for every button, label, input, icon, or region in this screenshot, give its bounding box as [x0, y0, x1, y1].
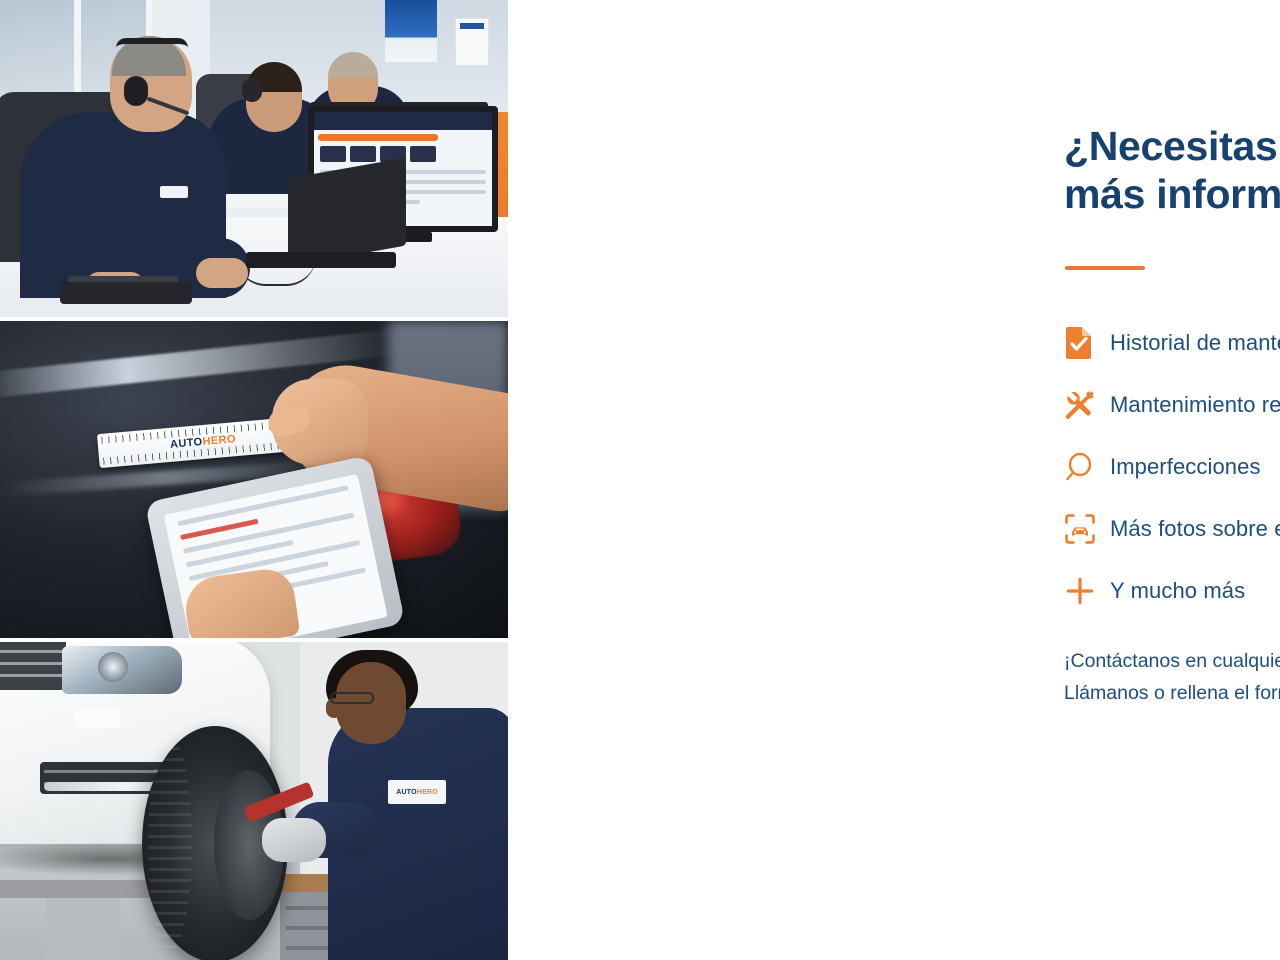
- plus-icon: [1064, 575, 1110, 607]
- accent-divider: [1065, 266, 1145, 270]
- headset-icon: [242, 78, 262, 102]
- car-lift-column: [46, 898, 120, 960]
- wrench-screwdriver-icon: [1064, 389, 1110, 421]
- wall-poster: [385, 0, 437, 62]
- desk-tablet: [60, 282, 192, 304]
- document-check-icon: [1064, 326, 1110, 360]
- headset-band-icon: [116, 38, 188, 48]
- photo-column: AUTOHERO: [0, 0, 508, 960]
- headline-line-2: más información?: [1064, 170, 1280, 218]
- car-grille: [0, 642, 66, 690]
- patch-brand-auto: AUTO: [396, 789, 417, 796]
- wall-notice: [455, 18, 489, 66]
- contact-line-2: Llámanos o rellena el formulario de cont…: [1064, 677, 1280, 709]
- agent-third-hair: [328, 52, 378, 78]
- content-panel: ¿Necesitas más información? Estamos: [508, 0, 1280, 960]
- patch-brand-hero: HERO: [417, 789, 438, 796]
- feature-label: Y mucho más: [1110, 578, 1245, 604]
- car-headlight: [62, 646, 182, 694]
- agent-main-hand: [196, 258, 248, 288]
- feature-item-fotos: Más fotos sobre el coche: [1064, 498, 1280, 560]
- contact-line-1: ¡Contáctanos en cualquier momento para m…: [1064, 645, 1280, 677]
- headset-earcup-icon: [124, 76, 148, 106]
- feature-item-mas: Y mucho más: [1064, 560, 1280, 622]
- feature-label: Más fotos sobre el coche: [1110, 516, 1280, 542]
- call-center-agents-photo: [0, 0, 508, 317]
- feature-list: Historial de mantenimientos Mantenimient…: [1064, 312, 1280, 622]
- glasses-icon: [330, 692, 374, 704]
- license-plate-blank: [74, 708, 120, 728]
- headline-line-1: ¿Necesitas: [1064, 123, 1278, 169]
- page-title: ¿Necesitas más información?: [1064, 122, 1280, 219]
- magnifier-icon: [1064, 451, 1110, 483]
- car-inspection-ruler-photo: AUTOHERO: [0, 321, 508, 638]
- promo-page: AUTOHERO: [0, 0, 1280, 960]
- feature-item-historial: Historial de mantenimientos: [1064, 312, 1280, 374]
- feature-label: Imperfecciones: [1110, 454, 1261, 480]
- feature-item-mantenimiento: Mantenimiento realizado: [1064, 374, 1280, 436]
- mechanic-wheel-photo: AUTOHERO: [0, 642, 508, 960]
- contact-text: ¡Contáctanos en cualquier momento para m…: [1064, 645, 1280, 709]
- feature-item-imperfecciones: Imperfecciones: [1064, 436, 1280, 498]
- feature-label: Mantenimiento realizado: [1110, 392, 1280, 418]
- agent-logo-patch: [160, 186, 188, 198]
- mechanic-glove: [262, 818, 326, 862]
- feature-label: Historial de mantenimientos: [1110, 330, 1280, 356]
- car-scan-icon: [1064, 513, 1110, 545]
- mechanic-logo-patch: AUTOHERO: [388, 780, 446, 804]
